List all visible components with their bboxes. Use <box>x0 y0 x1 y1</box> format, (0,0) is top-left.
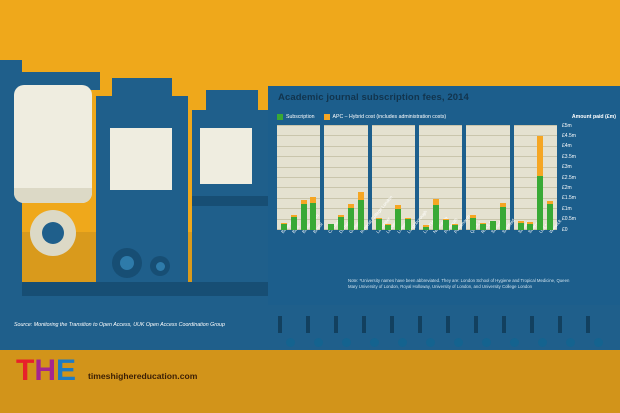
bar-ucl[interactable] <box>537 136 543 230</box>
logo-url[interactable]: timeshighereducation.com <box>88 371 197 381</box>
source-text: Source: Monitoring the Transition to Ope… <box>14 322 225 328</box>
gridline <box>419 156 462 157</box>
bar-bangor[interactable] <box>281 223 287 230</box>
y-axis-tick: £4.5m <box>562 134 576 139</box>
bar-liverpool[interactable] <box>395 205 401 230</box>
bar-segment-subscription <box>443 220 449 230</box>
conveyor-roller <box>398 338 407 347</box>
bar-swansea[interactable] <box>527 222 533 230</box>
x-axis-labels: BangorBathBirminghamBristolCranfieldDurh… <box>277 231 557 275</box>
gridline <box>466 125 509 126</box>
gridline <box>372 135 415 136</box>
gridline <box>419 198 462 199</box>
press-gear-small-inner <box>156 262 165 271</box>
bar-segment-subscription <box>452 225 458 230</box>
bar-newcastle[interactable] <box>433 199 439 230</box>
gridline <box>514 177 557 178</box>
conveyor-roller <box>286 338 295 347</box>
bar-plymouth[interactable] <box>443 219 449 230</box>
bar-salford[interactable] <box>490 221 496 230</box>
chart-title: Academic journal subscription fees, 2014 <box>278 92 469 103</box>
press-right-band <box>192 196 270 206</box>
chart-group-5 <box>466 126 509 230</box>
gridline <box>324 167 367 168</box>
conveyor-roller <box>342 338 351 347</box>
gridline <box>324 177 367 178</box>
gridline <box>372 156 415 157</box>
gridline <box>372 125 415 126</box>
bar-lshtm[interactable] <box>423 225 429 230</box>
press-paper-roll-shadow <box>14 188 92 203</box>
bar-segment-apc <box>537 136 543 176</box>
press-right-cap <box>206 90 258 114</box>
gridline <box>324 156 367 157</box>
bar-segment-subscription <box>310 203 316 230</box>
conveyor-slot <box>586 316 590 333</box>
y-axis-tick: £3m <box>562 165 572 170</box>
bar-segment-subscription <box>490 221 496 230</box>
bar-segment-subscription <box>328 224 334 230</box>
gridline <box>514 125 557 126</box>
gridline <box>419 135 462 136</box>
bar-segment-subscription <box>395 209 401 230</box>
conveyor-roller <box>482 338 491 347</box>
gridline <box>324 125 367 126</box>
gridline <box>466 177 509 178</box>
x-label-group-3: LancasterLeicesterLiverpoolLoughborough <box>372 231 415 275</box>
bar-durham[interactable] <box>338 215 344 230</box>
conveyor-roller <box>370 338 379 347</box>
bar-segment-subscription <box>518 223 524 230</box>
bar-segment-subscription <box>291 217 297 230</box>
chart-group-2 <box>324 126 367 230</box>
gridline <box>419 177 462 178</box>
gridline <box>514 156 557 157</box>
gridline <box>419 125 462 126</box>
gridline <box>419 146 462 147</box>
infographic-canvas: Academic journal subscription fees, 2014… <box>0 0 620 413</box>
conveyor-slot <box>530 316 534 333</box>
gridline <box>514 198 557 199</box>
chart-group-6 <box>514 126 557 230</box>
bar-segment-subscription <box>358 200 364 230</box>
bar-segment-subscription <box>376 219 382 230</box>
bar-qmul[interactable] <box>470 215 476 230</box>
conveyor-slot <box>418 316 422 333</box>
bar-rhul[interactable] <box>480 223 486 230</box>
chart-plot-area <box>277 126 557 230</box>
press-right-sheet <box>200 128 252 184</box>
bar-segment-subscription <box>338 217 344 230</box>
bar-segment-subscription <box>480 224 486 230</box>
bar-birmingham[interactable] <box>301 200 307 230</box>
y-axis-tick: £5m <box>562 124 572 129</box>
conveyor-slot <box>446 316 450 333</box>
press-connector <box>22 282 272 296</box>
gridline <box>419 167 462 168</box>
conveyor-slot <box>306 316 310 333</box>
bar-segment-subscription <box>423 227 429 230</box>
x-label-group-6: SussexSwanseaUCL*Warwick <box>514 231 557 275</box>
conveyor-slot <box>334 316 338 333</box>
bar-segment-subscription <box>281 224 287 230</box>
bar-segment-subscription <box>385 225 391 230</box>
bar-warwick[interactable] <box>547 201 553 230</box>
y-axis-tick: £0.5m <box>562 217 576 222</box>
logo-letter-h: H <box>34 358 56 384</box>
x-label-group-4: LSHTM*NewcastlePlymouthPortsmouth <box>419 231 462 275</box>
bar-segment-subscription <box>537 176 543 230</box>
gridline <box>277 156 320 157</box>
gridline <box>277 146 320 147</box>
gridline <box>372 177 415 178</box>
gridline <box>419 187 462 188</box>
gridline <box>324 146 367 147</box>
bar-segment-subscription <box>405 219 411 230</box>
bar-glasgow[interactable] <box>348 204 354 230</box>
chart-footnote: Note: *University names have been abbrev… <box>348 278 576 291</box>
conveyor-slot <box>558 316 562 333</box>
x-label-group-1: BangorBathBirminghamBristol <box>277 231 320 275</box>
y-axis-tick: £2m <box>562 186 572 191</box>
bar-segment-subscription <box>433 205 439 230</box>
bar-bath[interactable] <box>291 215 297 230</box>
gridline <box>466 135 509 136</box>
gridline <box>277 187 320 188</box>
bar-segment-subscription <box>301 204 307 230</box>
conveyor-roller <box>314 338 323 347</box>
gridline <box>277 125 320 126</box>
y-axis-tick: £2.5m <box>562 176 576 181</box>
bar-imperial-college-london[interactable] <box>358 192 364 230</box>
bar-portsmouth[interactable] <box>452 224 458 230</box>
gridline <box>324 187 367 188</box>
bar-segment-apc <box>358 192 364 200</box>
press-paper-roll <box>14 85 92 203</box>
bar-loughborough[interactable] <box>405 218 411 230</box>
y-axis: £0£0.5m£1m£1.5m£2m£2.5m£3m£3.5m£4m£4.5m£… <box>560 126 618 230</box>
gridline <box>466 156 509 157</box>
gridline <box>277 135 320 136</box>
y-axis-title: Amount paid (£m) <box>572 114 616 120</box>
conveyor-roller <box>538 338 547 347</box>
gridline <box>277 177 320 178</box>
gridline <box>466 198 509 199</box>
gridline <box>324 135 367 136</box>
legend-label-apc: APC – Hybrid cost (includes administrati… <box>333 114 447 120</box>
legend-label-subscription: Subscription <box>286 114 315 120</box>
gridline <box>372 146 415 147</box>
chart-group-1 <box>277 126 320 230</box>
x-label-group-5: QMUL*RHUL*SalfordSheffield <box>466 231 509 275</box>
logo-letter-t: T <box>16 358 34 384</box>
gridline <box>372 187 415 188</box>
bar-bristol[interactable] <box>310 197 316 230</box>
y-axis-tick: £1.5m <box>562 196 576 201</box>
conveyor-roller <box>594 338 603 347</box>
bar-segment-subscription <box>547 204 553 230</box>
gridline <box>419 208 462 209</box>
gridline <box>372 198 415 199</box>
gridline <box>514 135 557 136</box>
gridline <box>466 187 509 188</box>
conveyor-slot <box>390 316 394 333</box>
x-label-group-2: CranfieldDurhamGlasgowImperial College L… <box>324 231 367 275</box>
press-gear-large-inner <box>120 256 134 270</box>
bar-segment-subscription <box>348 208 354 230</box>
conveyor-slot <box>474 316 478 333</box>
bar-cranfield[interactable] <box>328 224 334 230</box>
legend-swatch-subscription <box>277 114 283 120</box>
conveyor-roller <box>454 338 463 347</box>
conveyor-roller <box>566 338 575 347</box>
conveyor-roller <box>510 338 519 347</box>
bar-segment-subscription <box>470 218 476 230</box>
bar-sussex[interactable] <box>518 221 524 230</box>
gridline <box>466 146 509 147</box>
y-axis-tick: £0 <box>562 228 568 233</box>
y-axis-tick: £3.5m <box>562 155 576 160</box>
gridline <box>514 167 557 168</box>
bar-leicester[interactable] <box>385 224 391 230</box>
gridline <box>514 187 557 188</box>
bar-sheffield[interactable] <box>500 203 506 230</box>
bar-segment-subscription <box>527 224 533 230</box>
press-centre-cap <box>112 78 172 100</box>
legend-item-apc: APC – Hybrid cost (includes administrati… <box>324 114 447 120</box>
legend-swatch-apc <box>324 114 330 120</box>
the-logo[interactable]: T H E timeshighereducation.com <box>16 358 197 384</box>
y-axis-tick: £1m <box>562 207 572 212</box>
gridline <box>277 167 320 168</box>
gridline <box>372 167 415 168</box>
press-roll-hub <box>42 222 64 244</box>
bar-segment-subscription <box>500 207 506 230</box>
y-axis-tick: £4m <box>562 144 572 149</box>
press-centre-sheet <box>110 128 172 190</box>
conveyor-roller <box>426 338 435 347</box>
chart-legend: Subscription APC – Hybrid cost (includes… <box>277 114 446 120</box>
bar-lancaster[interactable] <box>376 218 382 230</box>
gridline <box>514 146 557 147</box>
conveyor-slot <box>278 316 282 333</box>
conveyor-slot <box>502 316 506 333</box>
logo-letter-e: E <box>56 358 76 384</box>
gridline <box>466 167 509 168</box>
legend-item-subscription: Subscription <box>277 114 315 120</box>
printing-press-illustration <box>0 0 300 350</box>
conveyor-slot <box>362 316 366 333</box>
